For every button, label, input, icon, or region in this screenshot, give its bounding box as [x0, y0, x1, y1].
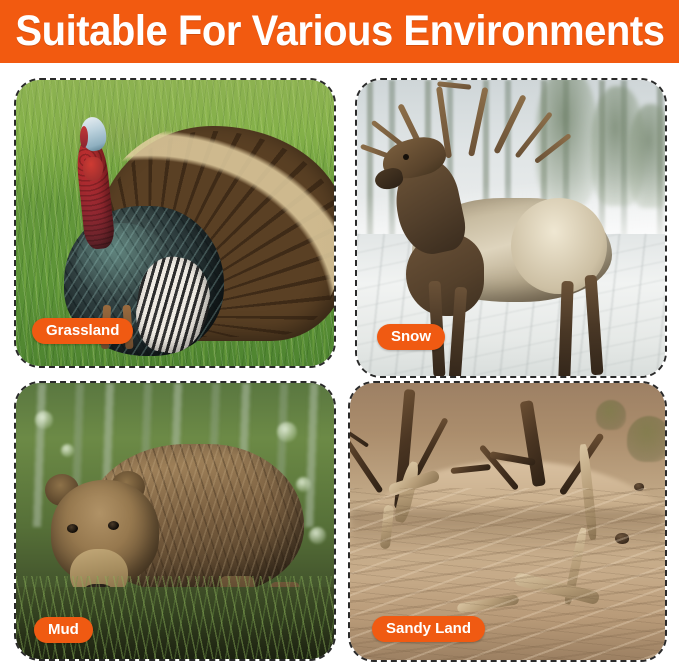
bokeh-4	[296, 477, 311, 492]
environment-panel-grassland[interactable]: Grassland	[14, 78, 336, 368]
environment-panel-snow[interactable]: Snow	[355, 78, 667, 378]
environment-label-snow: Snow	[377, 324, 445, 350]
snow-tree-3	[628, 104, 665, 208]
environment-label-sandy-land: Sandy Land	[372, 616, 485, 642]
header-banner: Suitable For Various Environments	[0, 0, 679, 63]
bokeh-2	[61, 444, 74, 457]
environment-label-mud: Mud	[34, 617, 93, 643]
bear-eye-left	[67, 524, 78, 533]
bokeh-3	[277, 422, 297, 442]
turkey-wattle	[83, 157, 103, 181]
turkey-snood	[80, 126, 88, 148]
snow-tree-1	[536, 80, 598, 208]
bokeh-1	[35, 411, 53, 429]
product-feature-graphic: Suitable For Various Environments Grassl…	[0, 0, 679, 668]
environment-label-grassland: Grassland	[32, 318, 133, 344]
environment-panel-mud[interactable]: Mud	[14, 381, 336, 661]
environment-panel-sandy-land[interactable]: Sandy Land	[348, 381, 667, 662]
bokeh-6	[309, 527, 326, 544]
page-title: Suitable For Various Environments	[15, 10, 664, 53]
desert-bush-upper	[596, 400, 626, 430]
desert-bush-right	[627, 416, 665, 462]
